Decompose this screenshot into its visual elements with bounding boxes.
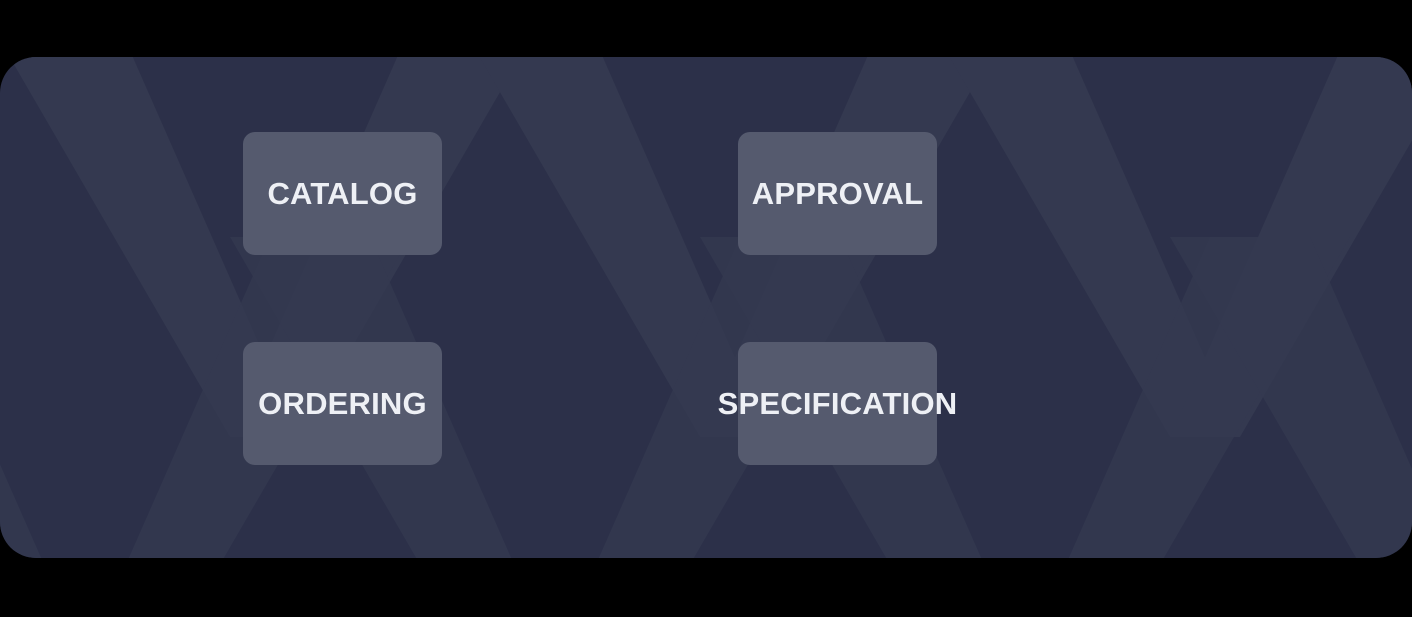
tile-label-ordering: ORDERING bbox=[258, 386, 427, 422]
screen-canvas: CATALOG APPROVAL ORDERING SPECIFICATION bbox=[0, 0, 1412, 617]
tile-ordering[interactable]: ORDERING bbox=[243, 342, 442, 465]
tile-grid: CATALOG APPROVAL ORDERING SPECIFICATION bbox=[0, 57, 1412, 558]
tile-catalog[interactable]: CATALOG bbox=[243, 132, 442, 255]
tile-label-specification: SPECIFICATION bbox=[718, 386, 958, 422]
tile-label-approval: APPROVAL bbox=[752, 176, 924, 212]
tile-label-catalog: CATALOG bbox=[267, 176, 417, 212]
tile-panel: CATALOG APPROVAL ORDERING SPECIFICATION bbox=[0, 57, 1412, 558]
tile-approval[interactable]: APPROVAL bbox=[738, 132, 937, 255]
tile-specification[interactable]: SPECIFICATION bbox=[738, 342, 937, 465]
